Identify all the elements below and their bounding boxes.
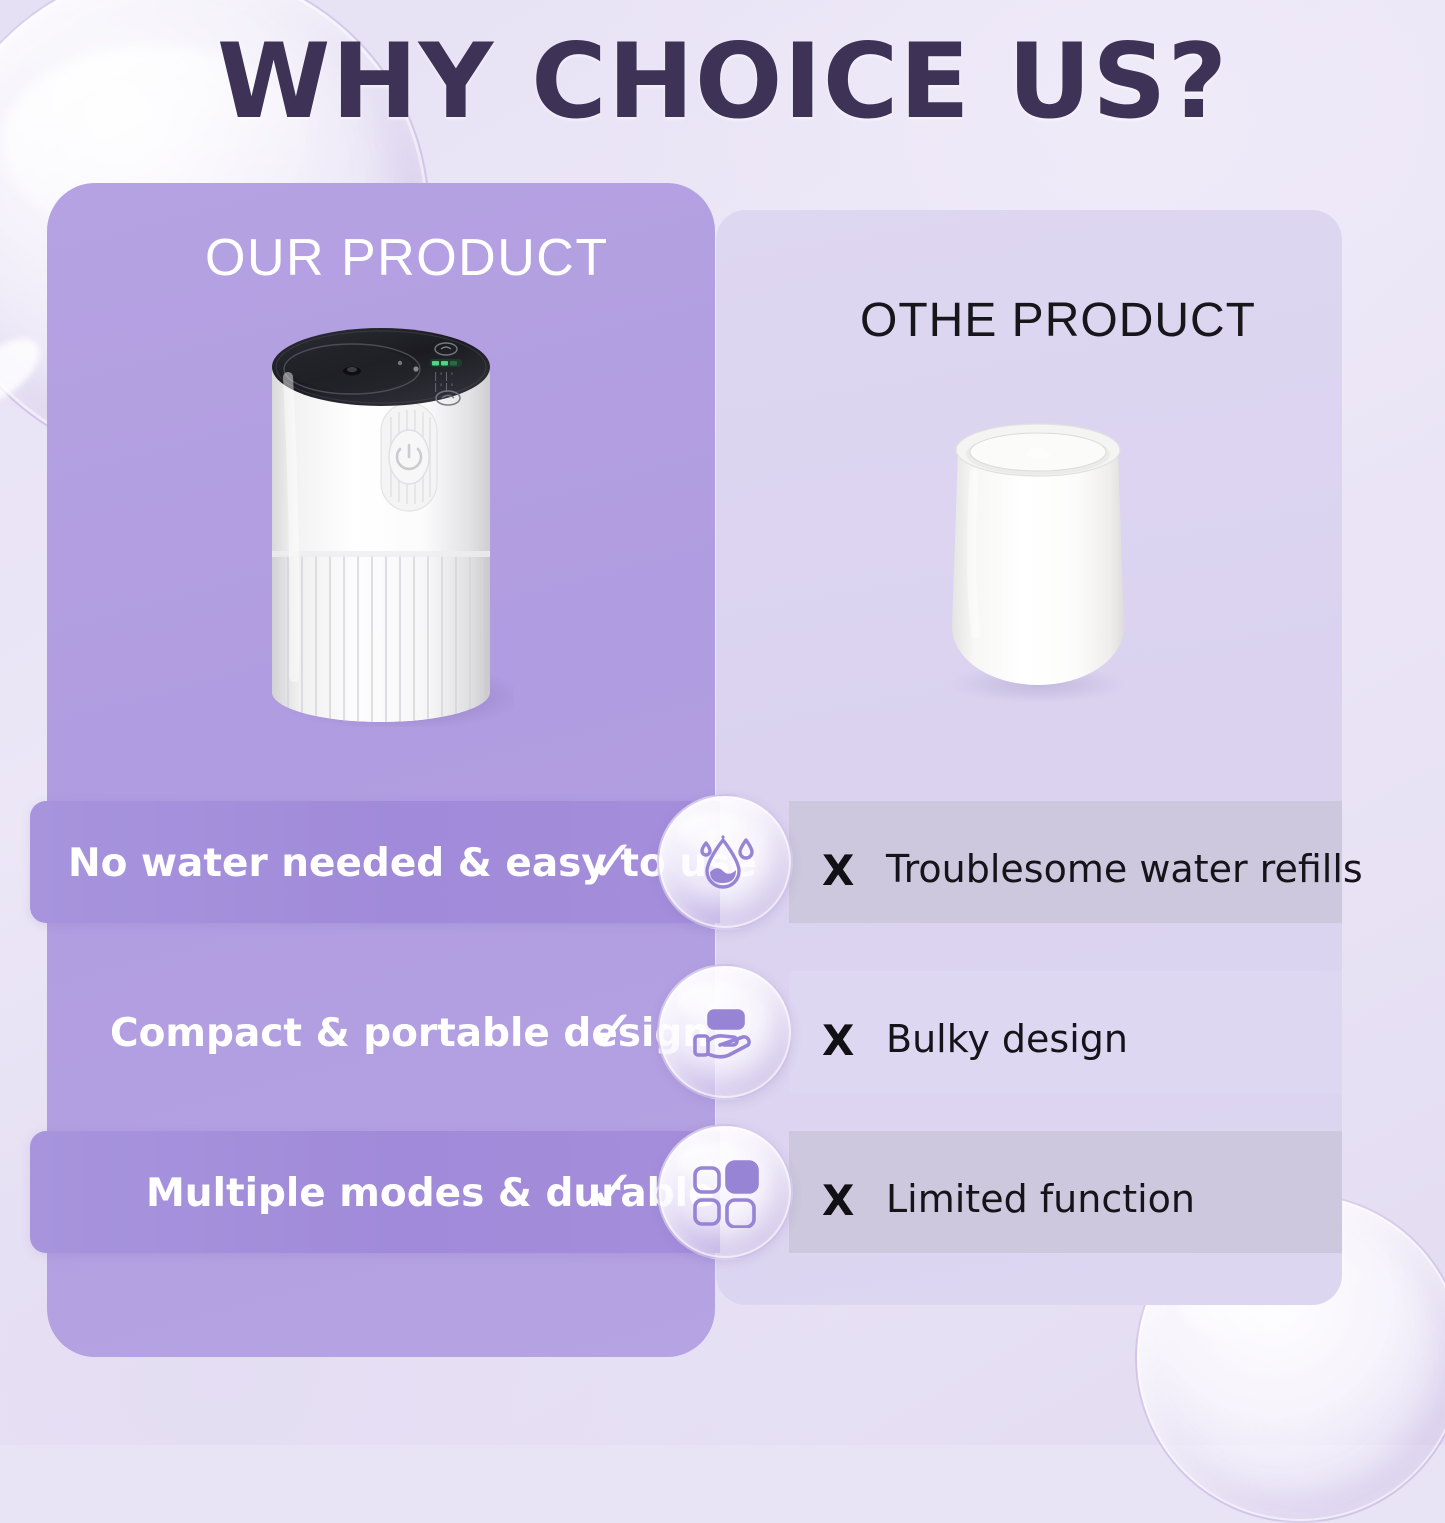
other-feature-label-1: Troublesome water refills bbox=[886, 847, 1363, 891]
svg-text:|'|': |'|' bbox=[433, 372, 455, 382]
grid-modes-icon bbox=[657, 1124, 793, 1260]
check-icon-1: ✓ bbox=[588, 832, 637, 890]
our-feature-label-1: No water needed & easy to use bbox=[68, 841, 562, 886]
hand-holding-device-icon bbox=[657, 964, 793, 1100]
our-product-image: |'|' |'|' bbox=[248, 297, 514, 727]
our-feature-label-2: Compact & portable design bbox=[110, 1011, 562, 1056]
cross-icon-2: X bbox=[822, 1016, 854, 1065]
water-drop-icon bbox=[657, 794, 793, 930]
other-product-image bbox=[930, 412, 1145, 702]
our-product-heading: OUR PRODUCT bbox=[205, 228, 609, 288]
other-feature-label-2: Bulky design bbox=[886, 1017, 1128, 1061]
check-icon-2: ✓ bbox=[588, 1002, 637, 1060]
cross-icon-1: X bbox=[822, 846, 854, 895]
our-feature-label-3: Multiple modes & durable bbox=[146, 1171, 562, 1216]
page-title: WHY CHOICE US? bbox=[0, 22, 1445, 142]
other-product-heading: OTHE PRODUCT bbox=[860, 293, 1256, 348]
check-icon-3: ✓ bbox=[588, 1162, 637, 1220]
other-feature-label-3: Limited function bbox=[886, 1177, 1195, 1221]
cross-icon-3: X bbox=[822, 1176, 854, 1225]
